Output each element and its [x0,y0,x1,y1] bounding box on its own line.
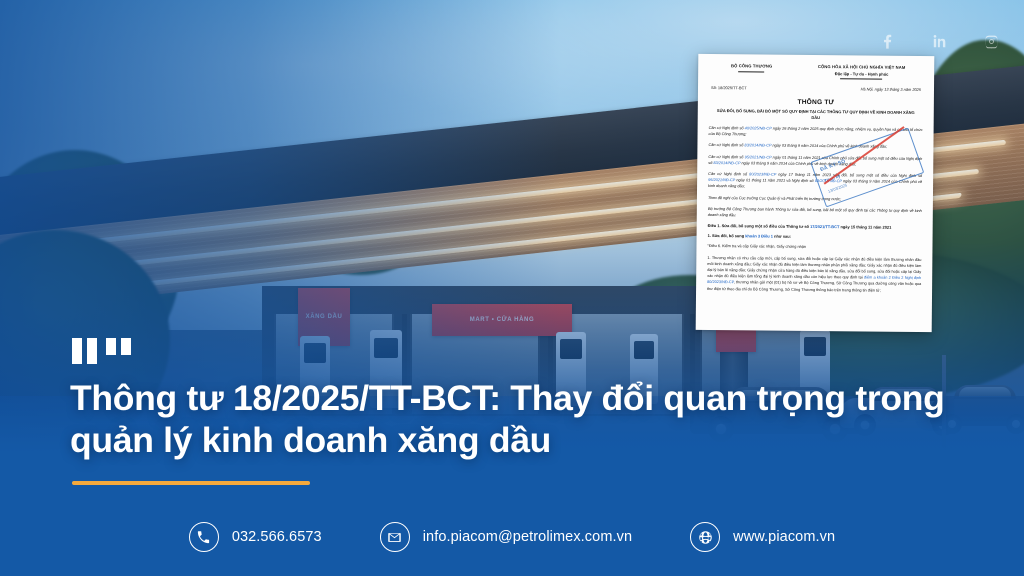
headline-line-2: quản lý kinh doanh xăng dầu [70,420,970,462]
document-paragraph: Căn cứ Nghị định số 80/2023/NĐ-CP ngày 1… [708,171,922,192]
contact-email-text: info.piacom@petrolimex.com.vn [423,529,632,545]
contact-phone[interactable]: 032.566.6573 [189,522,322,552]
legal-reference-link[interactable]: 95/2021/NĐ-CP [745,155,772,159]
quote-bar [72,338,82,364]
contact-website[interactable]: www.piacom.vn [690,522,835,552]
quotation-marks-icon [72,338,131,364]
legal-reference-link[interactable]: 83/2014/NĐ-CP [815,179,842,183]
article-pre: Điều 1. Sửa đổi, bổ sung một số điều của… [708,223,810,229]
issuing-authority-block: BỘ CÔNG THƯƠNG [709,63,794,79]
document-clause: 1. Sửa đổi, bổ sung khoản 3 Điều 1 như s… [708,233,922,240]
document-clause-body: 1. Thương nhân có nhu cầu cấp mới, cấp b… [707,255,921,294]
paragraph-post2: ngày 03 tháng 9 năm 2014 của Chính phủ v… [740,161,856,166]
accent-underline [72,481,310,485]
document-header: BỘ CÔNG THƯƠNG CỘNG HÒA XÃ HỘI CHỦ NGHĨA… [709,63,923,80]
legal-reference-link[interactable]: 83/2014/NĐ-CP [744,144,771,148]
quote-bar [121,338,131,355]
facebook-icon[interactable] [872,26,902,56]
document-paragraph: Căn cứ Nghị định số 83/2014/NĐ-CP ngày 0… [708,142,922,150]
document-meta: Số: 18/2025/TT-BCT Hà Nội, ngày 13 tháng… [709,85,923,92]
legal-reference-link[interactable]: 80/2023/NĐ-CP [749,172,776,176]
contact-bar: 032.566.6573 info.piacom@petrolimex.com.… [0,522,1024,552]
globe-icon [690,522,720,552]
paragraph-post: ngày 03 tháng 9 năm 2014 của Chính phủ v… [771,144,887,149]
legal-reference-link[interactable]: 83/2014/NĐ-CP [713,161,740,165]
phone-icon [189,522,219,552]
social-icon-row [872,26,1006,56]
article-post: ngày 15 tháng 11 năm 2021 [839,225,891,230]
paragraph-pre: Căn cứ Nghị định số [708,143,744,147]
paragraph-pre: Căn cứ Nghị định số [709,126,745,130]
contact-phone-text: 032.566.6573 [232,529,322,545]
circular-document-image[interactable]: BỘ CÔNG THƯƠNG CỘNG HÒA XÃ HỘI CHỦ NGHĨA… [696,54,935,332]
document-paragraph: Theo đề nghị của Cục trưởng Cục Quản lý … [708,195,922,203]
headline-line-1: Thông tư 18/2025/TT-BCT: Thay đổi quan t… [70,378,945,418]
legal-reference-link[interactable]: khoản 3 Điều 1 [745,234,773,239]
clause-body-post: , thương nhân gửi một (01) bộ hồ sơ về B… [707,281,921,293]
close-quote-icon [106,338,131,364]
paragraph-post2: ngày 01 tháng 11 năm 2021 và Nghị định s… [735,178,815,183]
national-title: CỘNG HÒA XÃ HỘI CHỦ NGHĨA VIỆT NAM [800,64,923,71]
legal-reference-link[interactable]: 17/2021/TT-BCT [810,224,839,229]
clause-pre: 1. Sửa đổi, bổ sung [708,233,746,238]
header-rule [841,78,883,79]
document-article: Điều 1. Sửa đổi, bổ sung một số điều của… [708,223,922,230]
instagram-icon[interactable] [976,26,1006,56]
paragraph-pre: Căn cứ Nghị định số [708,155,744,159]
contact-email[interactable]: info.piacom@petrolimex.com.vn [380,522,632,552]
contact-website-text: www.piacom.vn [733,529,835,545]
paragraph-post: ngày 17 tháng 11 năm 2023 sửa đổi, bổ su… [776,173,922,178]
linkedin-icon[interactable] [924,26,954,56]
document-place-date: Hà Nội, ngày 13 tháng 3 năm 2025 [861,86,921,92]
page-title: Thông tư 18/2025/TT-BCT: Thay đổi quan t… [70,378,970,461]
mail-icon [380,522,410,552]
national-heading-block: CỘNG HÒA XÃ HỘI CHỦ NGHĨA VIỆT NAM Độc l… [800,64,923,80]
national-motto: Độc lập - Tự do - Hạnh phúc [800,71,923,77]
banner-canvas: XĂNG DẦU MART • CỬA HÀNG [0,0,1024,576]
quote-bar [87,338,97,364]
header-rule [739,71,765,72]
document-paragraph: Căn cứ Nghị định số 95/2021/NĐ-CP ngày 0… [708,154,922,168]
document-title: THÔNG TƯ [709,98,923,107]
legal-reference-link[interactable]: 95/2021/NĐ-CP [708,178,735,182]
document-clause-quote: "Điều 6. Kiểm tra và cấp Giấy xác nhận, … [707,243,921,251]
document-number: Số: 18/2025/TT-BCT [711,85,747,90]
document-paragraph: Căn cứ Nghị định số 40/2025/NĐ-CP ngày 2… [709,125,923,139]
quote-bar [106,338,116,355]
document-subtitle: SỬA ĐỔI, BỔ SUNG, BÃI BỎ MỘT SỐ QUY ĐỊNH… [715,108,917,122]
clause-post: như sau: [773,234,791,239]
paragraph-pre: Căn cứ Nghị định số [708,172,749,176]
legal-reference-link[interactable]: 40/2025/NĐ-CP [745,126,772,130]
document-paragraph: Bộ trưởng Bộ Công Thương ban hành Thông … [708,206,922,220]
open-quote-icon [72,338,97,364]
issuing-authority: BỘ CÔNG THƯƠNG [709,63,794,70]
